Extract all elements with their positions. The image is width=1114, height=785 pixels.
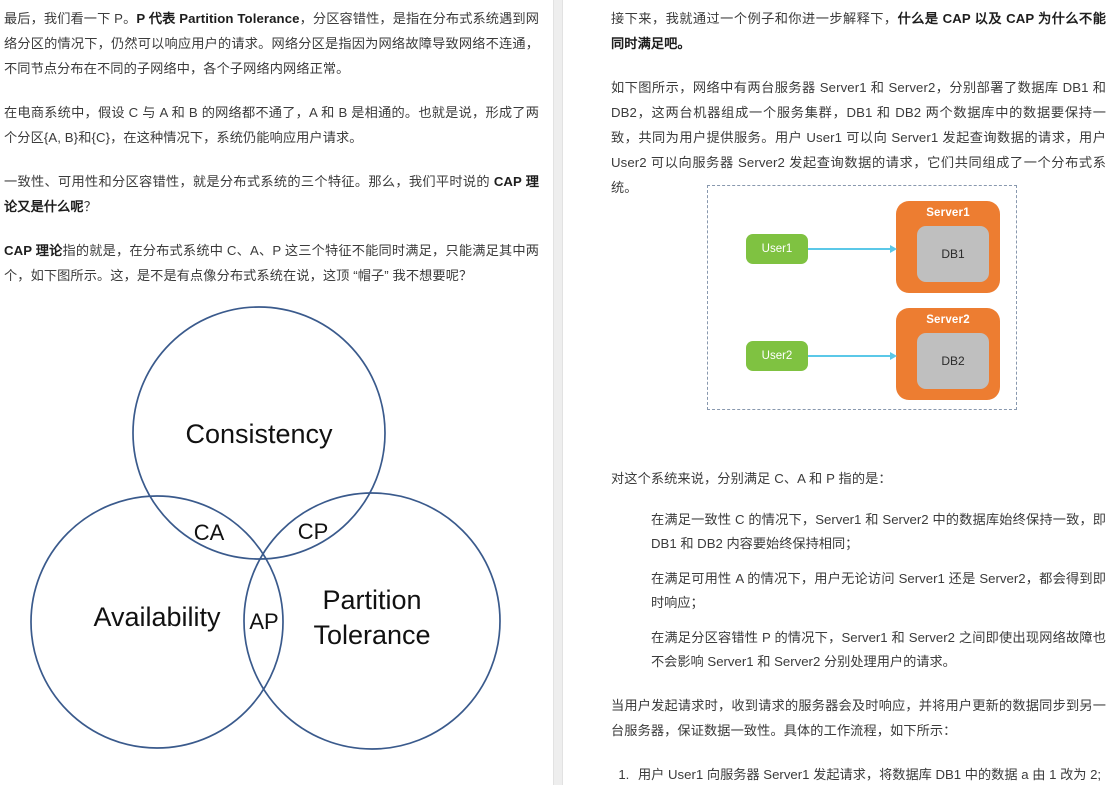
venn-label-availability: Availability: [93, 602, 221, 632]
left-column: 最后，我们看一下 P。P 代表 Partition Tolerance，分区容错…: [0, 0, 553, 785]
user1-box: User1: [746, 234, 808, 264]
venn-label-consistency: Consistency: [185, 419, 333, 449]
arrow-shaft: [808, 248, 891, 250]
arrow-head-icon: [890, 245, 897, 253]
arrow-shaft: [808, 355, 891, 357]
arrow-head-icon: [890, 352, 897, 360]
quote-partition-tolerance: 在满足分区容错性 P 的情况下，Server1 和 Server2 之间即使出现…: [651, 626, 1106, 674]
venn-label-ap: AP: [249, 609, 278, 634]
arrow-user2-to-server2: [808, 351, 897, 361]
user2-box: User2: [746, 341, 808, 371]
db2-box: DB2: [917, 333, 989, 389]
workflow-step-1: 用户 User1 向服务器 Server1 发起请求，将数据库 DB1 中的数据…: [633, 762, 1106, 785]
venn-label-ca: CA: [194, 520, 225, 545]
paragraph-three-features: 一致性、可用性和分区容错性，就是分布式系统的三个特征。那么，我们平时说的 CAP…: [4, 169, 539, 219]
para-text-b: 指的就是，在分布式系统中 C、A、P 这三个特征不能同时满足，只能满足其中两个，…: [4, 243, 539, 283]
server2-label: Server2: [896, 314, 1000, 326]
venn-label-partition-line1: Partition: [322, 585, 421, 615]
para-text-a: 接下来，我就通过一个例子和你进一步解释下，: [611, 11, 898, 26]
cap-explanation-list: 在满足一致性 C 的情况下，Server1 和 Server2 中的数据库始终保…: [611, 508, 1106, 674]
paragraph-intro-example: 接下来，我就通过一个例子和你进一步解释下，什么是 CAP 以及 CAP 为什么不…: [611, 6, 1106, 56]
paragraph-two-servers: 如下图所示，网络中有两台服务器 Server1 和 Server2，分别部署了数…: [611, 75, 1106, 200]
paragraph-cap-meaning: 对这个系统来说，分别满足 C、A 和 P 指的是：: [611, 466, 1106, 491]
venn-svg: Consistency Availability Partition Toler…: [0, 285, 553, 785]
para-text-c: ？: [84, 199, 97, 214]
db1-box: DB1: [917, 226, 989, 282]
para-text-a: 最后，我们看一下 P。: [4, 11, 136, 26]
paragraph-workflow-intro: 当用户发起请求时，收到请求的服务器会及时响应，并将用户更新的数据同步到另一台服务…: [611, 693, 1106, 743]
cap-venn-diagram: Consistency Availability Partition Toler…: [0, 285, 553, 785]
para-bold-partition-tolerance: P 代表 Partition Tolerance: [136, 11, 299, 26]
quote-consistency: 在满足一致性 C 的情况下，Server1 和 Server2 中的数据库始终保…: [651, 508, 1106, 556]
para-text-a: 一致性、可用性和分区容错性，就是分布式系统的三个特征。那么，我们平时说的: [4, 174, 494, 189]
venn-label-partition-line2: Tolerance: [313, 620, 430, 650]
paragraph-ecommerce-partition: 在电商系统中，假设 C 与 A 和 B 的网络都不通了，A 和 B 是相通的。也…: [4, 100, 539, 150]
arrow-user1-to-server1: [808, 244, 897, 254]
paragraph-partition-tolerance: 最后，我们看一下 P。P 代表 Partition Tolerance，分区容错…: [4, 6, 539, 81]
paragraph-cap-definition: CAP 理论指的就是，在分布式系统中 C、A、P 这三个特征不能同时满足，只能满…: [4, 238, 539, 288]
server1-box: Server1 DB1: [896, 201, 1000, 293]
server1-label: Server1: [896, 207, 1000, 219]
para-bold-cap-theory: CAP 理论: [4, 243, 63, 258]
workflow-steps-list: 用户 User1 向服务器 Server1 发起请求，将数据库 DB1 中的数据…: [611, 762, 1106, 785]
column-divider: [553, 0, 563, 785]
server2-box: Server2 DB2: [896, 308, 1000, 400]
quote-availability: 在满足可用性 A 的情况下，用户无论访问 Server1 还是 Server2，…: [651, 567, 1106, 615]
venn-label-cp: CP: [298, 519, 329, 544]
distributed-system-diagram: Server1 DB1 Server2 DB2 User1 User2: [707, 185, 1017, 410]
document-page: 最后，我们看一下 P。P 代表 Partition Tolerance，分区容错…: [0, 0, 1114, 785]
